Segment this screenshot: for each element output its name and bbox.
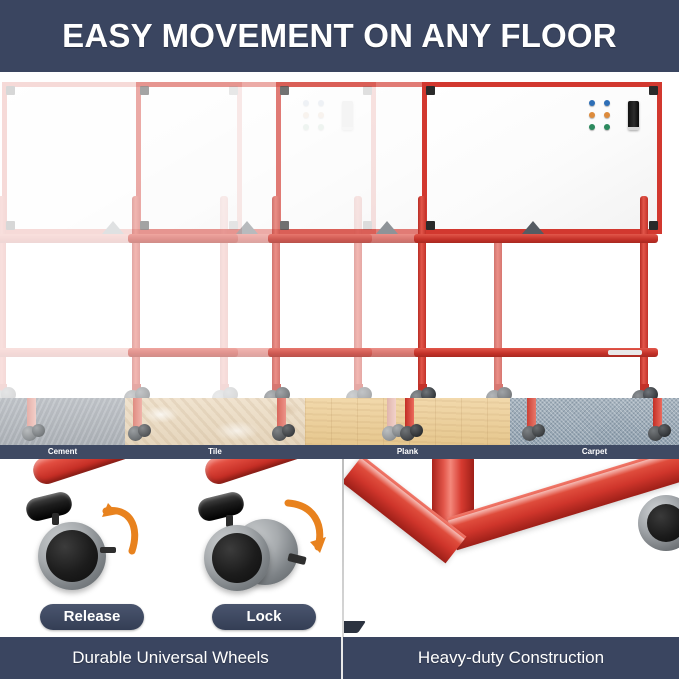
rotate-arrow-icon (100, 501, 146, 561)
floor-label-cement: Cement (0, 445, 125, 459)
corner-bracket-icon (426, 221, 435, 230)
pivot-knob (376, 221, 398, 234)
magnet-blue-icon (604, 100, 610, 106)
corner-bracket-icon (426, 86, 435, 95)
corner-bracket-icon (6, 221, 15, 230)
caption-durable-universal-wheels: Durable Universal Wheels (0, 637, 341, 679)
corner-bracket-icon (280, 221, 289, 230)
corner-bracket-icon (649, 221, 658, 230)
caption-heavy-duty-construction: Heavy-duty Construction (343, 637, 679, 679)
stand-post-left (132, 196, 140, 400)
wheels-feature-panel: Release Lock (0, 459, 342, 637)
corner-bracket-icon (140, 86, 149, 95)
board-accessories (585, 98, 639, 134)
stand-post-left (272, 196, 280, 400)
solid-whiteboard[interactable] (404, 78, 662, 400)
pivot-knob (236, 221, 258, 234)
caster-wheel-hub (46, 530, 98, 582)
corner-bracket-icon (6, 86, 15, 95)
tube-end-cap (196, 490, 246, 523)
floor-label-tile: Tile (125, 445, 305, 459)
construction-feature-panel (344, 459, 679, 637)
lock-caster-figure: Lock (180, 459, 342, 609)
floor-label-plank: Plank (305, 445, 510, 459)
magnet-orange-icon (589, 112, 595, 118)
corner-bracket-icon (649, 86, 658, 95)
rotate-arrow-icon (284, 495, 332, 557)
red-tube (202, 459, 336, 487)
hero-motion-trail (0, 72, 679, 400)
whiteboard-panel[interactable] (422, 82, 662, 234)
corner-bracket-icon (140, 221, 149, 230)
eraser-icon (628, 101, 639, 130)
infographic-page: EASY MOVEMENT ON ANY FLOOR (0, 0, 679, 679)
magnet-green-icon (604, 124, 610, 130)
magnet-green-icon (589, 124, 595, 130)
stand-post-left (418, 196, 426, 400)
release-caster-figure: Release (8, 459, 179, 609)
magnet-orange-icon (604, 112, 610, 118)
red-tube (30, 459, 164, 487)
magnet-blue-icon (589, 100, 595, 106)
tube-end-cap (24, 490, 74, 523)
corner-bracket-icon (280, 86, 289, 95)
beam-end-foot (344, 621, 366, 633)
stand-crossbar-top (414, 234, 658, 243)
floor-label-carpet: Carpet (510, 445, 679, 459)
floor-surfaces-strip (0, 398, 679, 445)
floor-segment-cement (0, 398, 125, 445)
lock-badge: Lock (212, 604, 316, 630)
header-banner: EASY MOVEMENT ON ANY FLOOR (0, 0, 679, 72)
floor-label-bar: Cement Tile Plank Carpet (0, 445, 679, 459)
pivot-knob[interactable] (522, 221, 544, 234)
caster-wheel-hub (212, 533, 262, 583)
release-badge: Release (40, 604, 144, 630)
caption-bar: Durable Universal Wheels Heavy-duty Cons… (0, 637, 679, 679)
page-title: EASY MOVEMENT ON ANY FLOOR (62, 17, 617, 55)
stand-post-right (640, 196, 648, 400)
stand-post-left (0, 196, 6, 400)
marker-tray (608, 350, 642, 355)
caster-stem (52, 513, 59, 525)
caster-wheel-hub (647, 504, 679, 542)
